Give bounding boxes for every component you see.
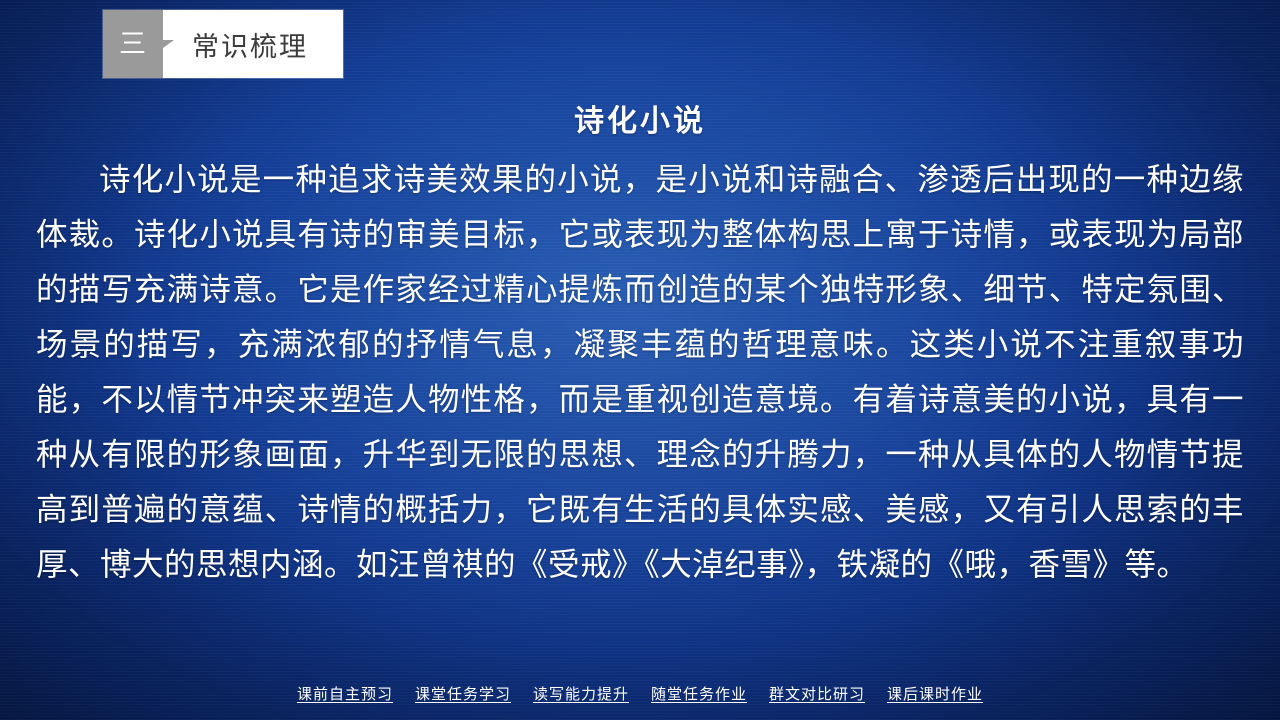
section-number-block: 三 [103,10,163,78]
page-title: 诗化小说 [0,96,1280,140]
nav-item-in-class-homework[interactable]: 随堂任务作业 [651,683,747,704]
section-number: 三 [119,31,147,58]
nav-item-group-text-study[interactable]: 群文对比研习 [769,683,865,704]
content-area: 诗化小说 诗化小说是一种追求诗美效果的小说，是小说和诗融合、渗透后出现的一种边缘… [0,96,1280,592]
body-paragraph: 诗化小说是一种追求诗美效果的小说，是小说和诗融合、渗透后出现的一种边缘体裁。诗化… [0,152,1280,592]
speech-tail-icon [163,40,174,48]
slide-canvas: 三 常识梳理 诗化小说 诗化小说是一种追求诗美效果的小说，是小说和诗融合、渗透后… [0,0,1280,720]
nav-item-preview[interactable]: 课前自主预习 [297,683,393,704]
section-badge: 三 常识梳理 [103,10,343,78]
section-title: 常识梳理 [163,25,343,64]
nav-item-reading-writing[interactable]: 读写能力提升 [533,683,629,704]
bottom-nav: 课前自主预习 课堂任务学习 读写能力提升 随堂任务作业 群文对比研习 课后课时作… [0,683,1280,704]
nav-item-after-class-homework[interactable]: 课后课时作业 [887,683,983,704]
nav-item-classroom-task[interactable]: 课堂任务学习 [415,683,511,704]
